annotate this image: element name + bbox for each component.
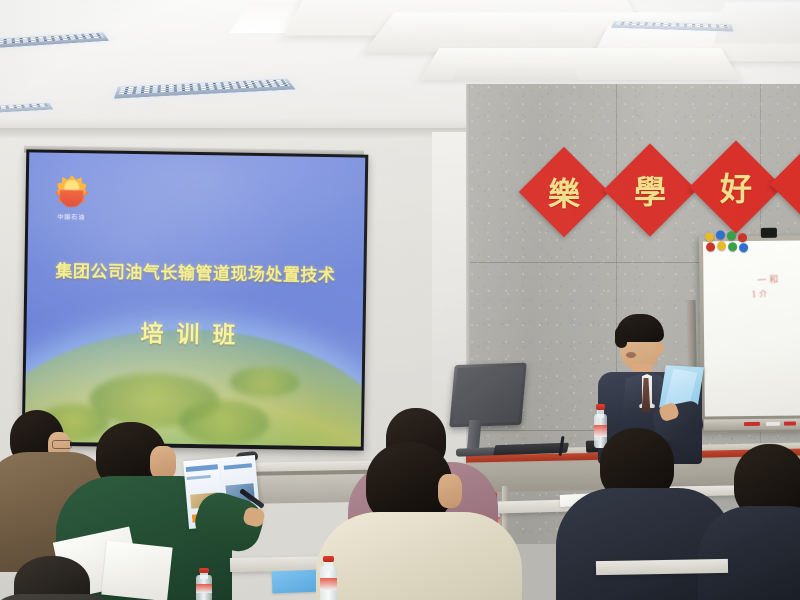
logo-caption: 中国石油 bbox=[50, 212, 92, 222]
banner-character: 好 bbox=[720, 164, 752, 210]
bottle-cap-icon bbox=[199, 568, 209, 573]
ceiling-coffer-panel bbox=[452, 60, 578, 81]
slide-surface: 中国石油 集团公司油气长输管道现场处置技术 培训班 bbox=[25, 152, 365, 446]
water-bottle bbox=[594, 404, 607, 448]
bottle-cap-icon bbox=[323, 556, 334, 562]
attendee-face bbox=[438, 474, 462, 508]
presenter-mouth bbox=[626, 352, 636, 358]
slide-subtitle: 培训班 bbox=[26, 312, 362, 351]
ceiling-coffer-panel bbox=[714, 2, 800, 43]
monitor-base bbox=[456, 447, 496, 456]
whiteboard-writing: 1 介 bbox=[751, 288, 767, 301]
banner-character: 學 bbox=[634, 167, 666, 213]
petrochina-logo: 中国石油 bbox=[50, 175, 93, 226]
lcd-monitor bbox=[449, 363, 526, 428]
slide-title: 集团公司油气长输管道现场处置技术 bbox=[27, 256, 363, 286]
whiteboard-clip-icon bbox=[761, 228, 777, 238]
water-bottle bbox=[320, 556, 337, 600]
bottle-cap-icon bbox=[596, 404, 604, 410]
attendee-face bbox=[150, 446, 176, 480]
whiteboard-writing: 一 和 bbox=[757, 274, 779, 287]
glasses-icon bbox=[52, 440, 72, 449]
marker-icon bbox=[784, 422, 796, 426]
marker-icon bbox=[744, 422, 760, 426]
marker-icon bbox=[766, 422, 780, 426]
whiteboard: 一 和 1 介 bbox=[699, 235, 800, 432]
wall-trim bbox=[0, 128, 472, 138]
water-bottle bbox=[196, 568, 212, 600]
foreground-papers bbox=[101, 541, 172, 600]
sunburst-inner-icon bbox=[59, 190, 83, 207]
foreground-desk bbox=[596, 559, 728, 575]
presenter-hair-side bbox=[615, 326, 627, 348]
whiteboard-magnets bbox=[705, 230, 751, 252]
projection-screen: 中国石油 集团公司油气长输管道现场处置技术 培训班 bbox=[22, 149, 369, 450]
attendee-body bbox=[316, 512, 522, 600]
whiteboard-surface: 一 和 1 介 bbox=[703, 240, 800, 416]
banner-character: 樂 bbox=[548, 169, 580, 215]
attendee-body bbox=[698, 506, 800, 600]
whiteboard-marker-tray bbox=[704, 418, 800, 430]
presenter-ear bbox=[656, 342, 664, 354]
conference-room-photo: 中国石油 集团公司油气长输管道现场处置技术 培训班 樂 學 好 一 和 1 介 bbox=[0, 0, 800, 600]
